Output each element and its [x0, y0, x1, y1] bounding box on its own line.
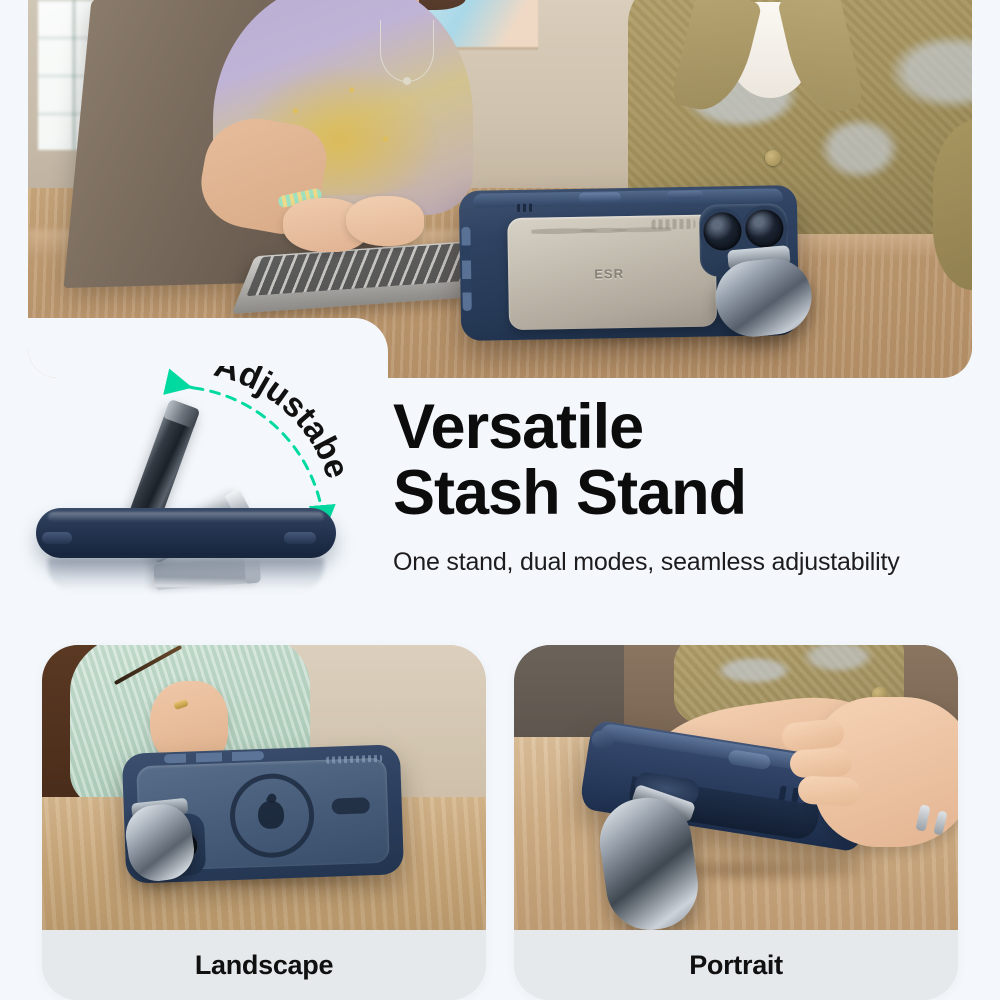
- card-portrait[interactable]: Portrait: [514, 645, 958, 1000]
- camera-lens-2: [745, 209, 784, 248]
- esr-logo: ESR: [588, 266, 630, 283]
- stand-base-notch-right: [284, 532, 316, 544]
- landscape-phone-case: [122, 744, 404, 884]
- hero-case-button-b: [667, 191, 703, 200]
- hero-image: ESR: [28, 0, 972, 378]
- mode-cards: Landscape: [0, 645, 1000, 1000]
- hero-case-button-a: [579, 192, 621, 202]
- headline-line-1: Versatile: [393, 394, 988, 460]
- portrait-photo: [514, 645, 958, 930]
- portrait-finger-3: [797, 775, 860, 806]
- cardigan-button: [765, 150, 781, 166]
- portrait-finger-2: [790, 748, 853, 778]
- hero-plate-label: [651, 219, 695, 230]
- feature-section: Adjustabe Versatile Stash Stand One stan…: [0, 378, 1000, 640]
- adjustable-stand-illustration: Adjustabe: [18, 366, 378, 616]
- landscape-photo: [42, 645, 486, 930]
- necklace: [380, 20, 434, 82]
- stand-base-reflection: [48, 558, 324, 592]
- hero-phone-case: ESR: [459, 185, 800, 341]
- headline-block: Versatile Stash Stand One stand, dual mo…: [393, 394, 988, 577]
- woman-right-hand: [346, 196, 424, 246]
- headline-line-2: Stash Stand: [393, 460, 988, 526]
- card-landscape[interactable]: Landscape: [42, 645, 486, 1000]
- hero-case-side-buttons: [461, 227, 471, 311]
- stand-base-notch-left: [42, 532, 72, 544]
- subheadline: One stand, dual modes, seamless adjustab…: [393, 548, 988, 577]
- page-title: Versatile Stash Stand: [393, 394, 988, 526]
- caption-portrait: Portrait: [514, 930, 958, 1000]
- apple-logo: [258, 800, 285, 829]
- stand-base-highlight: [48, 512, 324, 522]
- hero-case-vent: [517, 204, 535, 212]
- caption-landscape: Landscape: [42, 930, 486, 1000]
- landscape-case-pill: [332, 797, 371, 814]
- camera-lens-1: [703, 212, 742, 251]
- product-feature-page: ESR: [0, 0, 1000, 1000]
